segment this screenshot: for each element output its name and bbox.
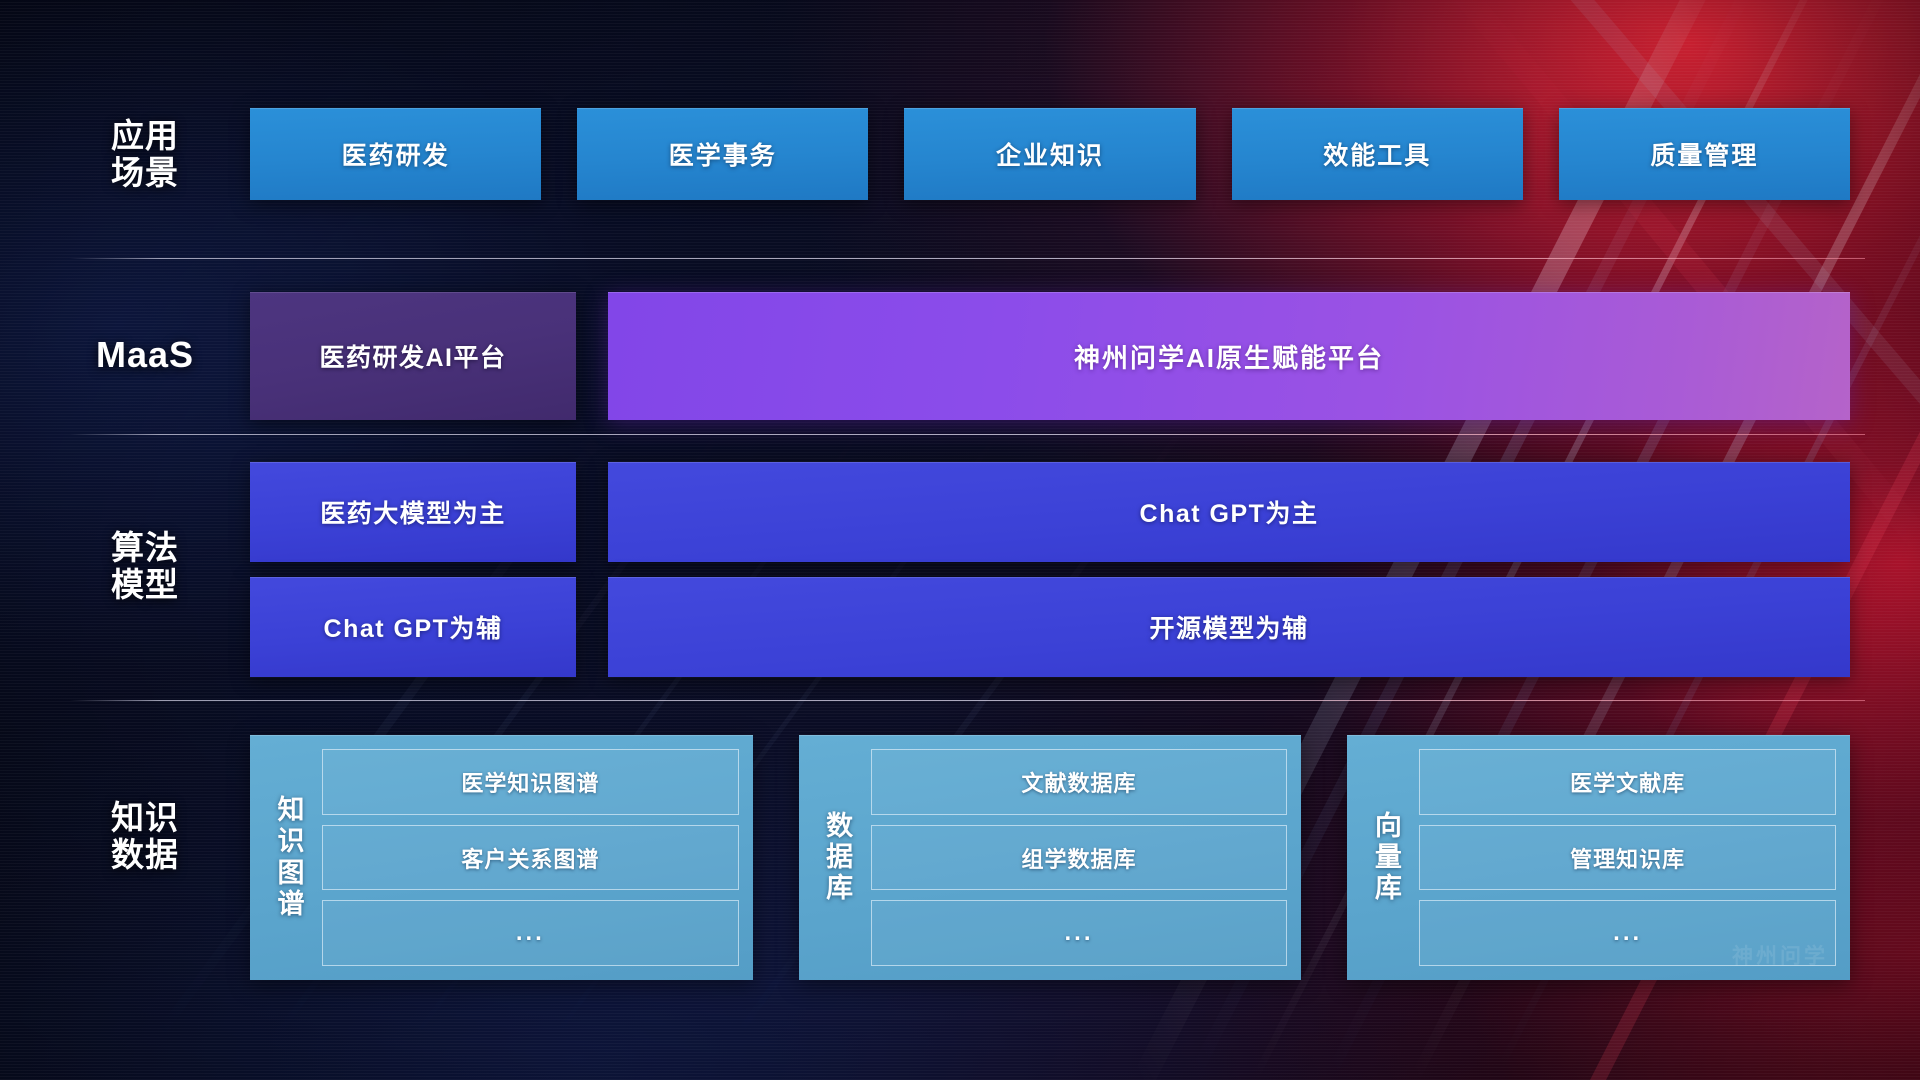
maas-card-shenzhou-wenxue-platform[interactable]: 神州问学AI原生赋能平台 [608, 292, 1850, 420]
knowledge-group-label-vector-store: 向量库 [1357, 749, 1419, 966]
vertical-label-char: 知 [278, 795, 305, 826]
knowledge-group-vector-store: 向量库 医学文献库 管理知识库 ... [1347, 735, 1850, 980]
row-label-maas: MaaS [70, 335, 220, 375]
knowledge-item-more-knowledge-graph[interactable]: ... [322, 900, 739, 966]
algo-card-medicine-large-model-primary[interactable]: 医药大模型为主 [250, 462, 576, 562]
vertical-label-char: 图 [278, 858, 305, 889]
algo-card-chatgpt-secondary[interactable]: Chat GPT为辅 [250, 577, 576, 677]
scenario-card-medicine-rd[interactable]: 医药研发 [250, 108, 541, 200]
vertical-label-char: 库 [826, 873, 853, 904]
knowledge-group-database: 数据库 文献数据库 组学数据库 ... [799, 735, 1302, 980]
vertical-label-char: 识 [278, 826, 305, 857]
scenario-card-quality-management[interactable]: 质量管理 [1559, 108, 1850, 200]
algo-card-opensource-secondary[interactable]: 开源模型为辅 [608, 577, 1850, 677]
knowledge-item-omics-database[interactable]: 组学数据库 [871, 825, 1288, 891]
knowledge-group-label-knowledge-graph: 知识图谱 [260, 749, 322, 966]
scenario-card-efficiency-tools[interactable]: 效能工具 [1232, 108, 1523, 200]
knowledge-group-label-database: 数据库 [809, 749, 871, 966]
row-label-algorithm-models: 算法 模型 [70, 530, 220, 604]
knowledge-group-knowledge-graph: 知识图谱 医学知识图谱 客户关系图谱 ... [250, 735, 753, 980]
vertical-label-char: 向 [1375, 811, 1402, 842]
divider-after-application-scenarios [70, 258, 1865, 259]
row-label-knowledge-data: 知识 数据 [70, 800, 220, 874]
knowledge-item-management-knowledge-store[interactable]: 管理知识库 [1419, 825, 1836, 891]
divider-after-algorithm-models [70, 700, 1865, 701]
knowledge-item-literature-database[interactable]: 文献数据库 [871, 749, 1288, 815]
row-label-application-scenarios: 应用 场景 [70, 118, 220, 192]
architecture-diagram: 应用 场景 医药研发 医学事务 企业知识 效能工具 质量管理 MaaS 医药研发… [0, 0, 1920, 1080]
maas-row: 医药研发AI平台 神州问学AI原生赋能平台 [250, 292, 1850, 420]
vertical-label-char: 据 [826, 842, 853, 873]
knowledge-item-more-vector-store[interactable]: ... [1419, 900, 1836, 966]
knowledge-item-more-database[interactable]: ... [871, 900, 1288, 966]
scenario-card-enterprise-knowledge[interactable]: 企业知识 [904, 108, 1195, 200]
vertical-label-char: 量 [1375, 842, 1402, 873]
knowledge-item-medical-knowledge-graph[interactable]: 医学知识图谱 [322, 749, 739, 815]
knowledge-items-knowledge-graph: 医学知识图谱 客户关系图谱 ... [322, 749, 739, 966]
algorithm-models-row: 医药大模型为主 Chat GPT为主 Chat GPT为辅 开源模型为辅 [250, 462, 1850, 677]
knowledge-items-database: 文献数据库 组学数据库 ... [871, 749, 1288, 966]
knowledge-item-medical-literature-store[interactable]: 医学文献库 [1419, 749, 1836, 815]
maas-card-medicine-rd-ai-platform[interactable]: 医药研发AI平台 [250, 292, 576, 420]
knowledge-items-vector-store: 医学文献库 管理知识库 ... [1419, 749, 1836, 966]
algorithm-models-line-secondary: Chat GPT为辅 开源模型为辅 [250, 577, 1850, 677]
knowledge-data-row: 知识图谱 医学知识图谱 客户关系图谱 ... 数据库 文献数据库 组学数据库 .… [250, 735, 1850, 980]
vertical-label-char: 谱 [278, 889, 305, 920]
vertical-label-char: 库 [1375, 873, 1402, 904]
knowledge-item-customer-relation-graph[interactable]: 客户关系图谱 [322, 825, 739, 891]
scenario-card-medical-affairs[interactable]: 医学事务 [577, 108, 868, 200]
algo-card-chatgpt-primary[interactable]: Chat GPT为主 [608, 462, 1850, 562]
algorithm-models-line-primary: 医药大模型为主 Chat GPT为主 [250, 462, 1850, 562]
vertical-label-char: 数 [826, 811, 853, 842]
divider-after-maas [70, 434, 1865, 435]
application-scenarios-row: 医药研发 医学事务 企业知识 效能工具 质量管理 [250, 108, 1850, 200]
